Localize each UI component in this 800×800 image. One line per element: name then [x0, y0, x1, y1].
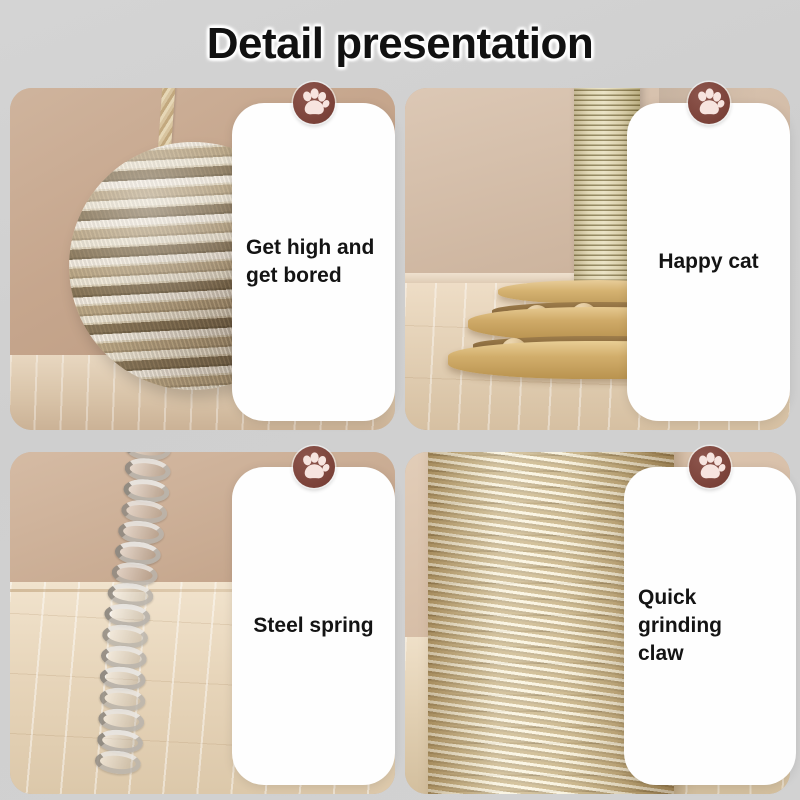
detail-cell-rope-ball: Get high andget bored [10, 88, 395, 430]
detail-grid: Get high andget bored [10, 88, 790, 794]
label-panel-scratching-post: Happy cat [627, 103, 790, 421]
label-text: Quick grindingclaw [638, 584, 782, 668]
paw-icon [688, 82, 730, 124]
page-title: Detail presentation [207, 19, 594, 69]
label-panel-rope-column: Quick grindingclaw [624, 467, 796, 785]
label-text: Get high andget bored [246, 234, 381, 290]
label-text: Steel spring [246, 612, 381, 640]
label-panel-rope-ball: Get high andget bored [232, 103, 395, 421]
paw-icon [293, 82, 335, 124]
paw-icon [293, 446, 335, 488]
label-text: Happy cat [641, 248, 776, 276]
paw-icon [689, 446, 731, 488]
label-panel-steel-spring: Steel spring [232, 467, 395, 785]
detail-cell-steel-spring: Steel spring [10, 452, 395, 794]
detail-cell-rope-column: Quick grindingclaw [405, 452, 790, 794]
header: Detail presentation [0, 0, 800, 88]
detail-cell-scratching-post: Happy cat [405, 88, 790, 430]
spring-coil [93, 749, 141, 777]
